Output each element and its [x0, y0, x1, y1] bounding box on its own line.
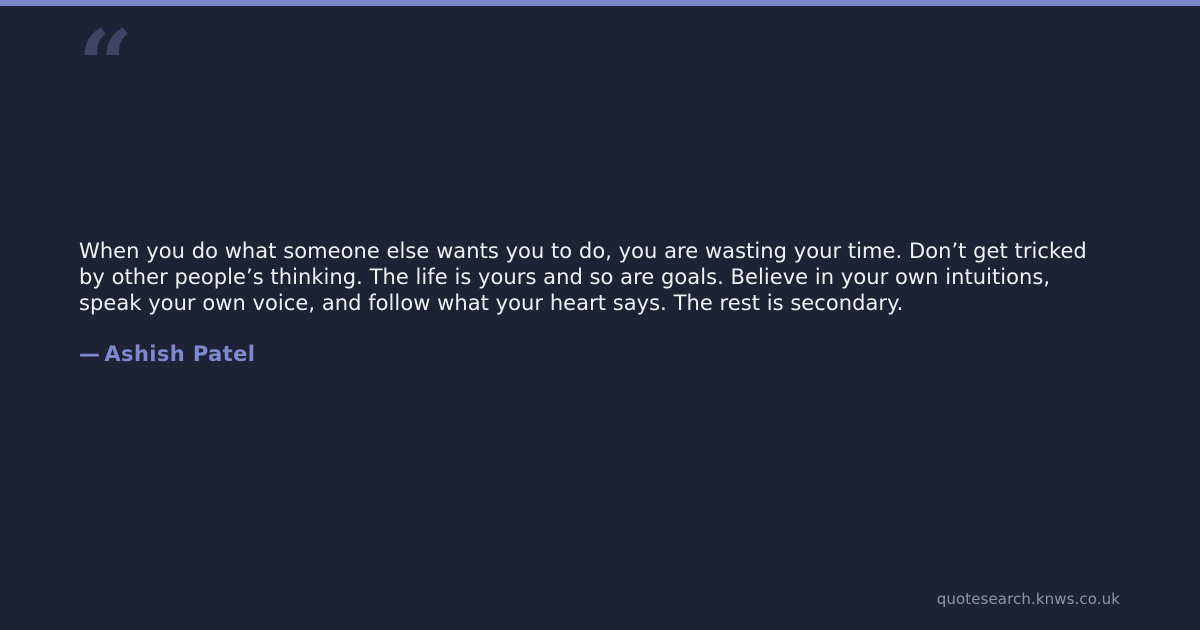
em-dash: — [79, 342, 100, 366]
source-url-label: quotesearch.knws.co.uk [937, 590, 1120, 608]
author-name: Ashish Patel [104, 342, 255, 366]
quote-text: When you do what someone else wants you … [79, 238, 1101, 316]
quote-card: “ When you do what someone else wants yo… [0, 0, 1200, 630]
quotation-mark-icon: “ [78, 18, 131, 114]
quote-block: When you do what someone else wants you … [79, 238, 1101, 316]
top-accent-bar [0, 0, 1200, 6]
quote-attribution: —Ashish Patel [79, 341, 255, 367]
